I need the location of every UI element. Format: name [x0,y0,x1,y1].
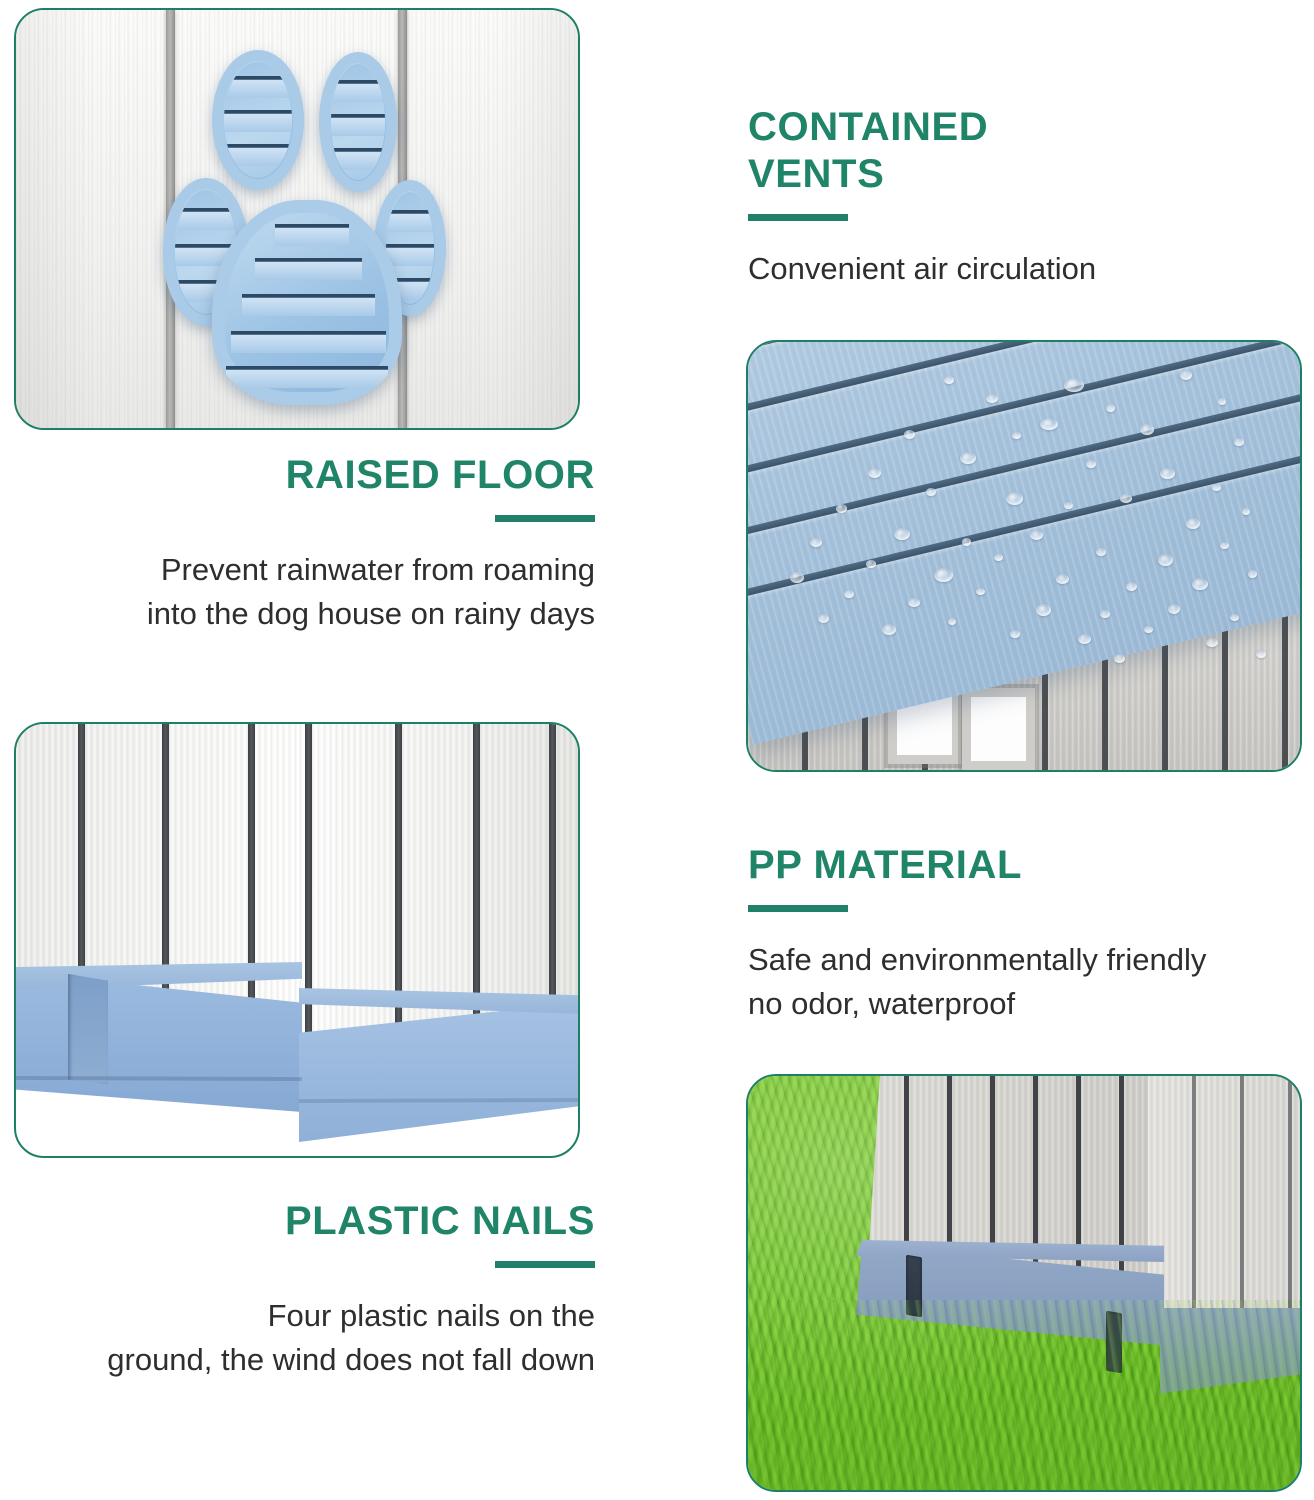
wet-roof-scene [748,342,1300,770]
feature-body: Convenient air circulation [748,247,1293,291]
feature-heading: PLASTIC NAILS [30,1198,595,1245]
house-wall-side [1148,1076,1300,1324]
plank-seam [395,724,402,1035]
feature-heading: PP MATERIAL [748,842,1303,889]
toe-louvers [224,62,292,178]
heading-accent-rule [748,905,848,912]
toe-vent-2 [319,52,397,192]
grass-corner-scene [748,1076,1300,1490]
paw-vent-scene [16,10,578,428]
pad-louvers [226,214,388,391]
heading-accent-rule [495,1261,595,1268]
wall-texture [297,724,578,1035]
window-pane-right [962,688,1035,770]
foreground-grass [748,1300,1300,1490]
feature-body: Four plastic nails on the ground, the wi… [30,1294,595,1382]
feature-text-contained-vents: CONTAINED VENTS Convenient air circulati… [748,104,1293,291]
raised-base-scene [16,724,578,1156]
plank-seam [248,724,255,1035]
image-panel-raised-base [14,722,580,1158]
heading-accent-rule [748,214,848,221]
feature-heading: RAISED FLOOR [30,452,595,499]
feature-text-raised-floor: RAISED FLOOR Prevent rainwater from roam… [30,452,595,636]
main-pad-vent [212,200,402,405]
image-panel-wet-roof [746,340,1302,772]
image-panel-grass-nails [746,1074,1302,1492]
image-panel-contained-vents [14,8,580,430]
feature-heading: CONTAINED VENTS [748,104,1293,198]
feature-text-plastic-nails: PLASTIC NAILS Four plastic nails on the … [30,1198,595,1382]
wall-plank-seams [1148,1076,1300,1324]
feature-body: Prevent rainwater from roaming into the … [30,548,595,636]
toe-louvers [331,64,385,180]
infographic-page: RAISED FLOOR Prevent rainwater from roam… [0,0,1314,1500]
base-notch-slot [68,974,108,1084]
plank-seam [549,724,556,1035]
house-wall-right [297,724,578,1035]
heading-accent-rule [495,515,595,522]
plank-seam [473,724,480,1035]
toe-vent-1 [212,50,304,190]
feature-text-pp-material: PP MATERIAL Safe and environmentally fri… [748,842,1303,1026]
feature-body: Safe and environmentally friendly no odo… [748,938,1303,1026]
